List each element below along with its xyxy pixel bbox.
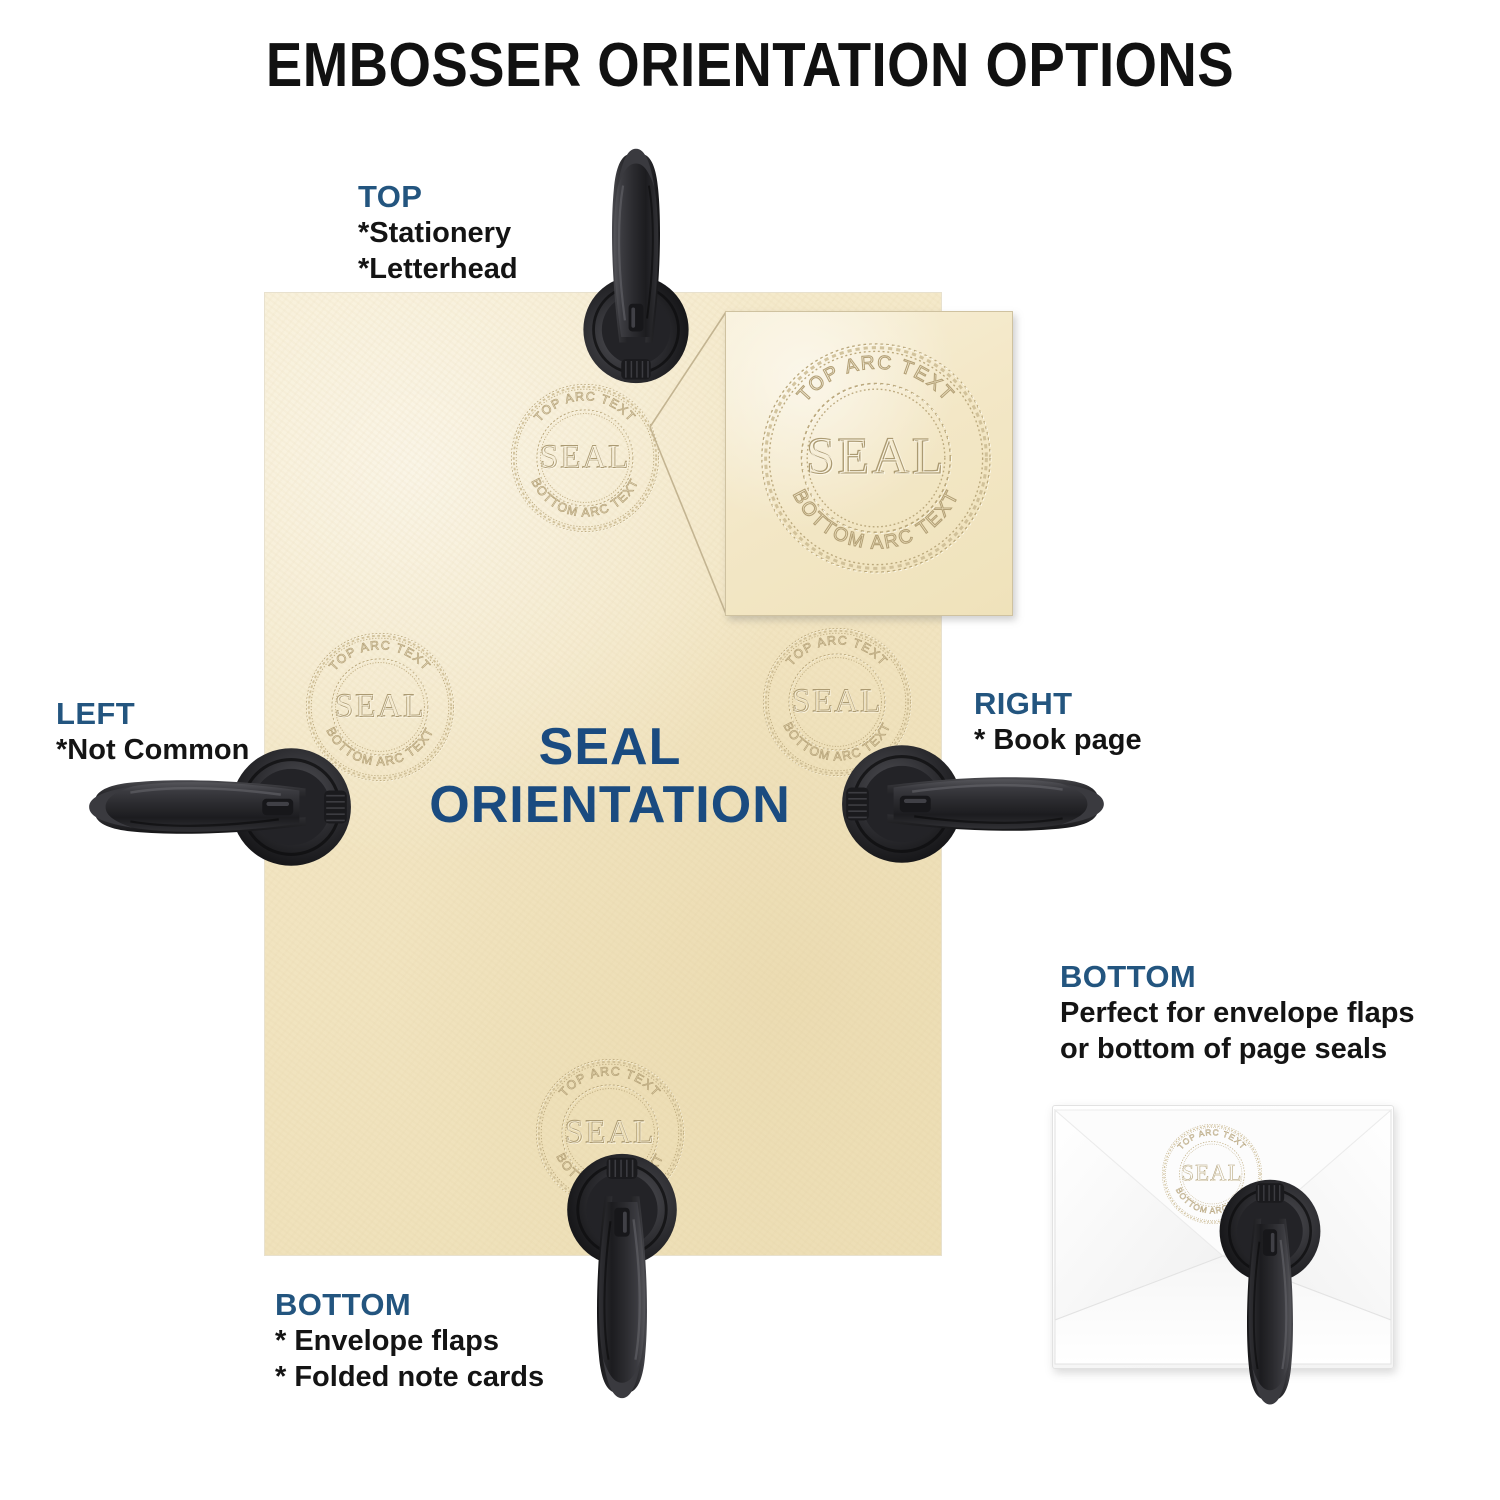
infographic-canvas: EMBOSSER ORIENTATION OPTIONS xyxy=(0,0,1500,1500)
label-top: TOP *Stationery *Letterhead xyxy=(358,180,518,288)
label-bottom-left-line-1: * Envelope flaps xyxy=(275,1323,544,1360)
label-bottom-left-heading: BOTTOM xyxy=(275,1288,544,1323)
embosser-tool-top[interactable] xyxy=(516,145,756,385)
center-caption: SEAL ORIENTATION xyxy=(330,718,890,834)
center-caption-line-1: SEAL xyxy=(330,718,890,776)
label-bottom-right: BOTTOM Perfect for envelope flaps or bot… xyxy=(1060,960,1415,1068)
seal-impression-top xyxy=(505,378,665,538)
seal-impression-magnified xyxy=(752,334,1000,582)
label-bottom-left: BOTTOM * Envelope flaps * Folded note ca… xyxy=(275,1288,544,1396)
page-title: EMBOSSER ORIENTATION OPTIONS xyxy=(90,30,1410,101)
label-right-heading: RIGHT xyxy=(974,687,1142,722)
magnifier-callout xyxy=(725,311,1013,616)
embosser-tool-envelope[interactable] xyxy=(1155,1178,1385,1408)
label-left: LEFT *Not Common xyxy=(56,697,249,768)
label-bottom-left-line-2: * Folded note cards xyxy=(275,1359,544,1396)
label-top-heading: TOP xyxy=(358,180,518,215)
label-right-line-1: * Book page xyxy=(974,722,1142,759)
label-left-heading: LEFT xyxy=(56,697,249,732)
label-top-line-2: *Letterhead xyxy=(358,251,518,288)
label-bottom-right-heading: BOTTOM xyxy=(1060,960,1415,995)
label-left-line-1: *Not Common xyxy=(56,732,249,769)
label-bottom-right-line-1: Perfect for envelope flaps xyxy=(1060,995,1415,1032)
label-right: RIGHT * Book page xyxy=(974,687,1142,758)
label-bottom-right-line-2: or bottom of page seals xyxy=(1060,1031,1415,1068)
label-top-line-1: *Stationery xyxy=(358,215,518,252)
center-caption-line-2: ORIENTATION xyxy=(330,776,890,834)
